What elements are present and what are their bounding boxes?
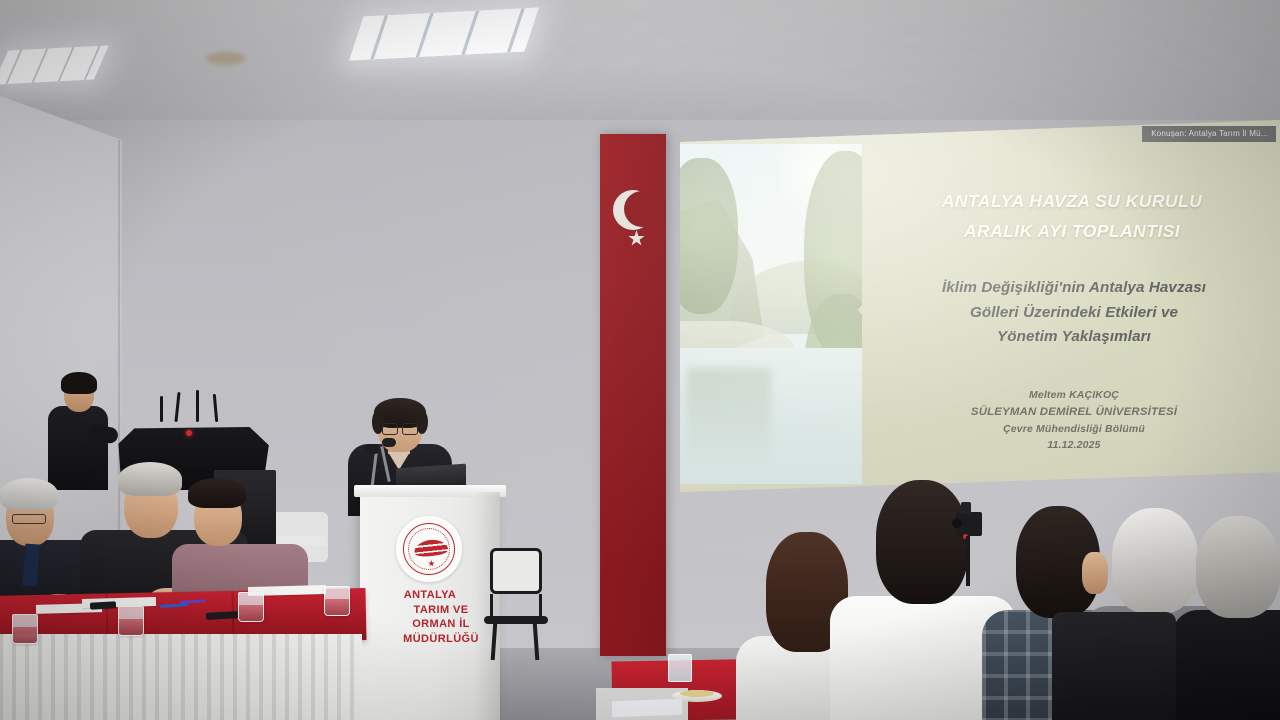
water-glass bbox=[118, 606, 144, 636]
person-hair bbox=[188, 478, 246, 508]
chair-leg bbox=[533, 622, 540, 660]
slide-author-dept: Çevre Mühendisliği Bölümü bbox=[880, 422, 1268, 438]
star-icon bbox=[628, 230, 645, 247]
person-torso bbox=[1172, 610, 1280, 720]
camera-lens-icon bbox=[952, 518, 962, 528]
person-head bbox=[1196, 516, 1280, 618]
microphone-icon bbox=[364, 444, 380, 454]
slide-title-line-2: ARALIK AYI TOPLANTISI bbox=[872, 216, 1272, 246]
plate-contents bbox=[680, 690, 714, 697]
head-table-skirt bbox=[0, 634, 362, 720]
ceiling-water-stain bbox=[206, 52, 246, 65]
tripod-stem bbox=[966, 536, 970, 586]
projected-slide: Konuşan: Antalya Tarım İl Mü... ANTALYA … bbox=[672, 120, 1280, 492]
crew-hair bbox=[61, 372, 97, 394]
eyeglasses-icon bbox=[382, 423, 418, 433]
slide-author-block: Meltem KAÇIKOÇ SÜLEYMAN DEMİREL ÜNİVERSİ… bbox=[880, 388, 1268, 454]
camera-handle bbox=[961, 502, 971, 514]
turkish-flag-banner bbox=[600, 134, 666, 656]
folding-chair bbox=[484, 548, 548, 660]
slide-landscape-photo bbox=[680, 144, 862, 484]
microphone-icon bbox=[382, 438, 396, 447]
audience-chair-back bbox=[1052, 612, 1176, 720]
notebook bbox=[612, 699, 683, 717]
water-glass bbox=[238, 592, 264, 622]
conference-room-photo: Konuşan: Antalya Tarım İl Mü... ANTALYA … bbox=[0, 0, 1280, 720]
antenna-icon bbox=[196, 390, 199, 422]
podium: ANTALYA TARIM VE ORMAN İL MÜDÜRLÜĞÜ bbox=[360, 492, 500, 720]
audience-member bbox=[1178, 508, 1280, 720]
necktie bbox=[23, 544, 40, 587]
water-glass bbox=[668, 654, 692, 682]
ceiling-shading bbox=[0, 0, 1280, 132]
projector-washout bbox=[680, 144, 862, 484]
chair-frame bbox=[490, 594, 542, 618]
smartphone bbox=[90, 601, 116, 609]
ministry-emblem-icon bbox=[396, 516, 462, 582]
person-hair bbox=[0, 478, 58, 510]
chair-leg bbox=[491, 622, 498, 660]
slide-subtitle-line-3: Yönetim Yaklaşımları bbox=[868, 325, 1280, 350]
slide-title-line-1: ANTALYA HAVZA SU KURULU bbox=[872, 186, 1272, 216]
slide-author-name: Meltem KAÇIKOÇ bbox=[880, 388, 1268, 404]
chair-backrest bbox=[490, 548, 542, 594]
ceiling-light-icon bbox=[0, 45, 109, 84]
recording-led-icon bbox=[186, 430, 192, 436]
slide-author-org: SÜLEYMAN DEMİREL ÜNİVERSİTESİ bbox=[880, 404, 1268, 422]
water-glass bbox=[324, 586, 350, 616]
ceiling bbox=[0, 0, 1280, 132]
slide-subtitle: İklim Değişikliği'nin Antalya Havzası Gö… bbox=[868, 276, 1280, 350]
video-camera bbox=[952, 500, 986, 544]
eyeglasses-icon bbox=[12, 514, 46, 524]
crescent-icon bbox=[613, 190, 653, 230]
slide-speaker-badge: Konuşan: Antalya Tarım İl Mü... bbox=[1142, 126, 1276, 142]
slide-date: 11.12.2025 bbox=[880, 438, 1268, 454]
antenna-icon bbox=[160, 396, 163, 422]
slide-subtitle-line-1: İklim Değişikliği'nin Antalya Havzası bbox=[868, 276, 1280, 301]
slide-title: ANTALYA HAVZA SU KURULU ARALIK AYI TOPLA… bbox=[872, 186, 1272, 246]
slide-subtitle-line-2: Gölleri Üzerindeki Etkileri ve bbox=[868, 301, 1280, 326]
water-glass bbox=[12, 614, 38, 644]
